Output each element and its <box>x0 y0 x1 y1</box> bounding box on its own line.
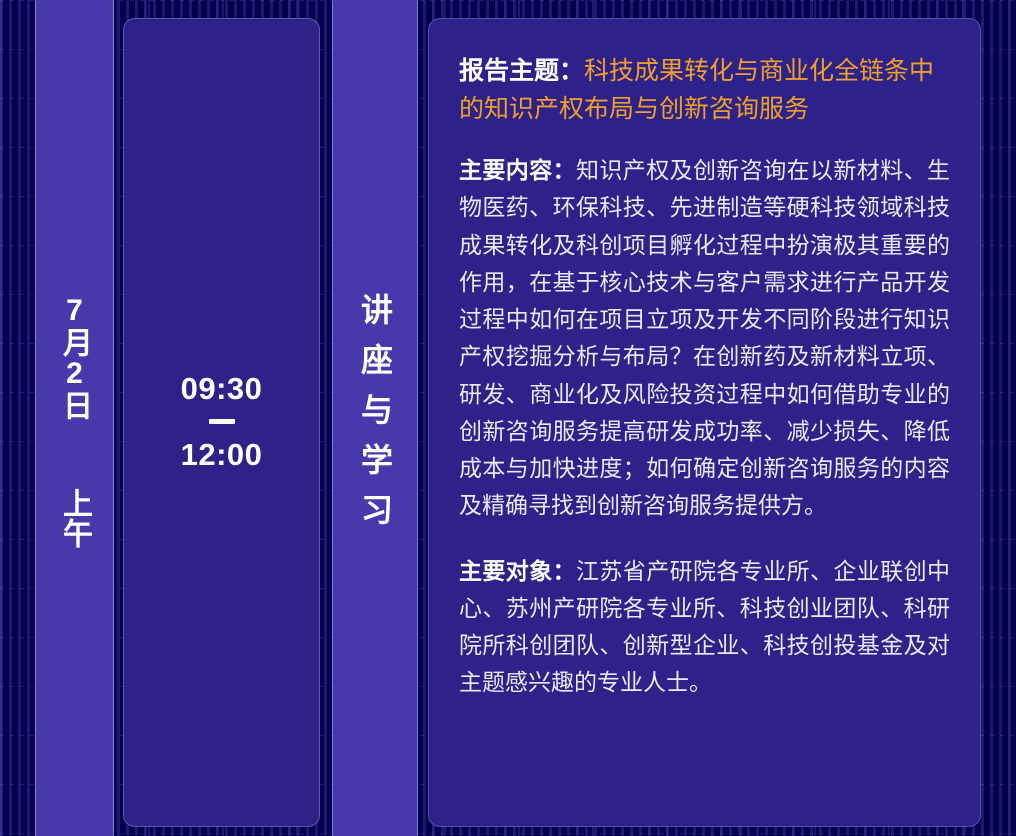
session-detail-panel[interactable]: 报告主题：科技成果转化与商业化全链条中的知识产权布局与创新咨询服务 主要内容：知… <box>428 18 981 827</box>
audience-field-label: 主要对象： <box>459 558 576 584</box>
category-column[interactable]: 讲座与学习 <box>332 0 418 836</box>
date-column[interactable]: 7月2日 上午 <box>35 0 114 836</box>
time-end-label: 12:00 <box>181 436 263 475</box>
time-column[interactable]: 09:30 12:00 <box>123 18 320 827</box>
date-day-label: 7月2日 <box>55 294 94 420</box>
time-range-dash-icon <box>209 419 235 424</box>
time-start-label: 09:30 <box>181 370 263 409</box>
main-content-block: 主要内容：知识产权及创新咨询在以新材料、生物医药、环保科技、先进制造等硬科技领域… <box>459 152 950 525</box>
date-period-label: 上午 <box>55 488 94 548</box>
content-spacer <box>459 525 950 553</box>
topic-block: 报告主题：科技成果转化与商业化全链条中的知识产权布局与创新咨询服务 <box>459 53 950 128</box>
main-content-field-value: 知识产权及创新咨询在以新材料、生物医药、环保科技、先进制造等硬科技领域科技成果转… <box>459 157 950 518</box>
main-content-field-label: 主要内容： <box>459 157 576 183</box>
topic-field-label: 报告主题： <box>459 57 584 85</box>
audience-block: 主要对象：江苏省产研院各专业所、企业联创中心、苏州产研院各专业所、科技创业团队、… <box>459 553 950 702</box>
category-label: 讲座与学习 <box>359 293 391 543</box>
schedule-row: 7月2日 上午 09:30 12:00 讲座与学习 报告主题：科技成果转化与商业… <box>0 0 1016 836</box>
